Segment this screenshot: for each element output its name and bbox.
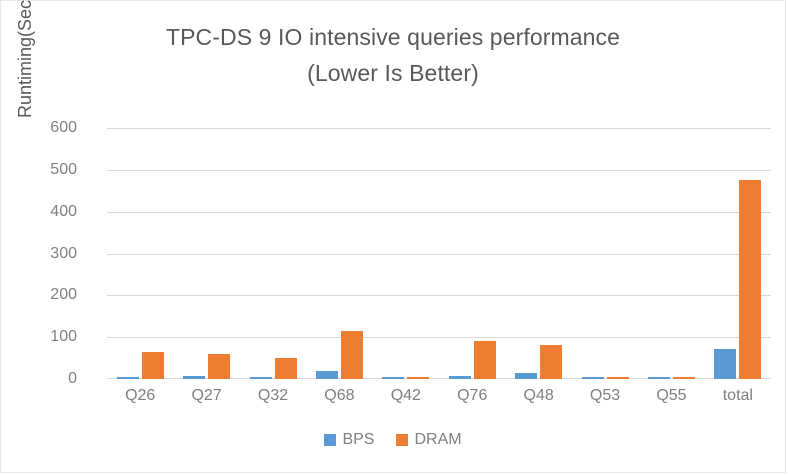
x-axis-tick-label-total: total (705, 387, 771, 405)
bar-dram-q53[interactable] (607, 377, 629, 380)
bar-bps-q55[interactable] (648, 377, 670, 379)
bar-dram-q42[interactable] (407, 377, 429, 379)
bar-group (439, 128, 505, 379)
bar-group (373, 128, 439, 379)
bar-dram-total[interactable] (739, 180, 761, 379)
bar-bps-total[interactable] (714, 349, 736, 379)
plot-area: 0100200300400500600 (107, 128, 771, 379)
bar-group (107, 128, 173, 379)
legend-swatch-icon (324, 434, 336, 446)
bar-group (705, 128, 771, 379)
chart-title-line-1: TPC-DS 9 IO intensive queries performanc… (166, 24, 620, 50)
chart-container: TPC-DS 9 IO intensive queries performanc… (0, 0, 786, 473)
y-axis-tick-label: 600 (17, 119, 77, 137)
x-axis-tick-label-q27: Q27 (173, 387, 239, 405)
y-axis-tick-label: 200 (17, 286, 77, 304)
bar-group (638, 128, 704, 379)
bar-dram-q27[interactable] (208, 354, 230, 379)
chart-title-line-2: (Lower Is Better) (1, 55, 785, 91)
chart-legend: BPSDRAM (1, 431, 785, 449)
x-axis-tick-label-q53: Q53 (572, 387, 638, 405)
bar-group (173, 128, 239, 379)
x-axis-tick-label-q32: Q32 (240, 387, 306, 405)
bar-groups (107, 128, 771, 379)
bar-bps-q48[interactable] (515, 373, 537, 379)
x-axis-tick-label-q26: Q26 (107, 387, 173, 405)
x-axis-tick-labels: Q26Q27Q32Q68Q42Q76Q48Q53Q55total (107, 387, 771, 405)
bar-dram-q48[interactable] (540, 345, 562, 379)
y-axis-tick-label: 0 (17, 370, 77, 388)
bar-group (240, 128, 306, 379)
x-axis-tick-label-q68: Q68 (306, 387, 372, 405)
bar-group (306, 128, 372, 379)
y-axis-tick-label: 500 (17, 161, 77, 179)
legend-item-dram[interactable]: DRAM (396, 431, 461, 449)
bar-dram-q55[interactable] (673, 377, 695, 379)
legend-label: BPS (342, 431, 374, 449)
chart-title: TPC-DS 9 IO intensive queries performanc… (1, 19, 785, 91)
bar-bps-q53[interactable] (582, 377, 604, 380)
bar-bps-q27[interactable] (183, 376, 205, 379)
bar-dram-q68[interactable] (341, 331, 363, 379)
x-axis-tick-label-q42: Q42 (373, 387, 439, 405)
bar-dram-q26[interactable] (142, 352, 164, 379)
bar-dram-q76[interactable] (474, 341, 496, 379)
bar-bps-q68[interactable] (316, 371, 338, 379)
y-axis-tick-label: 300 (17, 245, 77, 263)
bar-bps-q76[interactable] (449, 376, 471, 379)
bar-dram-q32[interactable] (275, 358, 297, 379)
legend-swatch-icon (396, 434, 408, 446)
bar-bps-q32[interactable] (250, 377, 272, 379)
bar-group (505, 128, 571, 379)
x-axis-tick-label-q48: Q48 (505, 387, 571, 405)
legend-label: DRAM (414, 431, 461, 449)
bar-bps-q26[interactable] (117, 377, 139, 379)
bar-bps-q42[interactable] (382, 377, 404, 379)
y-axis-tick-label: 100 (17, 328, 77, 346)
legend-item-bps[interactable]: BPS (324, 431, 374, 449)
bar-group (572, 128, 638, 379)
y-axis-tick-label: 400 (17, 203, 77, 221)
x-axis-tick-label-q76: Q76 (439, 387, 505, 405)
x-axis-tick-label-q55: Q55 (638, 387, 704, 405)
